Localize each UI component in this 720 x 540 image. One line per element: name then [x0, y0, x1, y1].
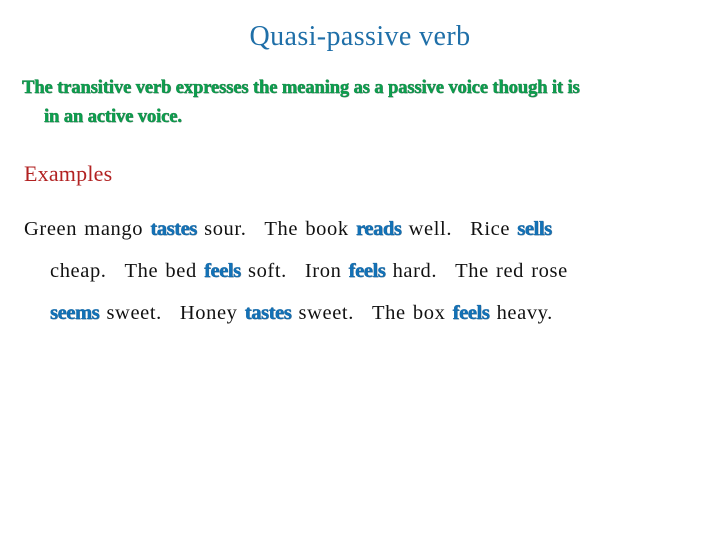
- example-5-suffix: hard.: [385, 260, 437, 282]
- example-3-suffix: cheap.: [50, 260, 107, 282]
- page-title: Quasi-passive verb: [0, 20, 720, 54]
- keyword-feels-2: feels: [349, 260, 386, 282]
- slide-canvas: Quasi-passive verb The transitive verb e…: [0, 0, 720, 540]
- example-7-suffix: sweet.: [291, 302, 354, 324]
- definition-line-2: in an active voice.: [22, 103, 700, 132]
- examples-body: Green mango tastes sour.The book reads w…: [24, 208, 696, 334]
- examples-heading: Examples: [24, 160, 112, 188]
- definition-line-1: The transitive verb expresses the meanin…: [22, 78, 580, 98]
- keyword-tastes-1: tastes: [150, 218, 197, 240]
- example-1-prefix: Green mango: [24, 218, 150, 240]
- example-7-prefix: Honey: [180, 302, 245, 324]
- example-2-prefix: The book: [264, 218, 356, 240]
- keyword-feels-3: feels: [453, 302, 490, 324]
- example-line-3: seems sweet.Honey tastes sweet.The box f…: [24, 292, 696, 334]
- example-1-suffix: sour.: [197, 218, 247, 240]
- keyword-tastes-2: tastes: [245, 302, 292, 324]
- definition-paragraph: The transitive verb expresses the meanin…: [22, 74, 700, 132]
- example-8-suffix: heavy.: [489, 302, 553, 324]
- example-6-prefix: The red rose: [455, 260, 568, 282]
- example-line-2: cheap.The bed feels soft.Iron feels hard…: [24, 250, 696, 292]
- keyword-seems: seems: [50, 302, 99, 324]
- example-4-suffix: soft.: [241, 260, 287, 282]
- example-5-prefix: Iron: [305, 260, 349, 282]
- example-6-suffix: sweet.: [99, 302, 162, 324]
- example-3-prefix: Rice: [470, 218, 517, 240]
- keyword-reads: reads: [356, 218, 401, 240]
- keyword-sells: sells: [517, 218, 551, 240]
- example-line-1: Green mango tastes sour.The book reads w…: [24, 208, 696, 250]
- example-2-suffix: well.: [401, 218, 452, 240]
- example-8-prefix: The box: [372, 302, 453, 324]
- example-4-prefix: The bed: [125, 260, 205, 282]
- keyword-feels-1: feels: [204, 260, 241, 282]
